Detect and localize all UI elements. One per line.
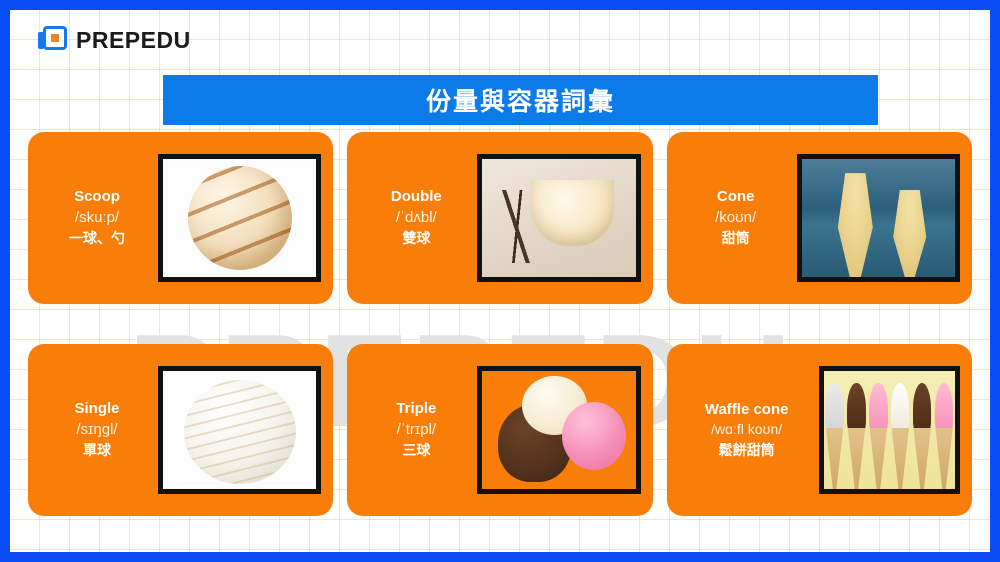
vocab-card-triple[interactable]: Triple /ˈtrɪpl/ 三球 xyxy=(347,344,652,516)
vocab-word: Cone xyxy=(679,187,793,207)
vocab-card-waffle-cone[interactable]: Waffle cone /wɑːfl koʊn/ 鬆餅甜筒 xyxy=(667,344,972,516)
vocab-card-text-block: Scoop /skuːp/ 一球、勺 xyxy=(40,187,158,249)
brand-header: PREPEDU xyxy=(38,26,191,55)
vocab-word: Single xyxy=(40,399,154,419)
vanilla-bowl-ice-cream-photo xyxy=(477,154,640,282)
vocab-translation: 鬆餅甜筒 xyxy=(679,440,815,460)
three-scoops-chocolate-vanilla-strawberry-photo xyxy=(477,366,640,494)
vocab-card-single[interactable]: Single /sɪŋgl/ 單球 xyxy=(28,344,333,516)
vocab-ipa: /sɪŋgl/ xyxy=(40,419,154,440)
vocab-word: Triple xyxy=(359,399,473,419)
row-of-waffle-cones-photo xyxy=(819,366,960,494)
vocab-card-text-block: Double /ˈdʌbl/ 雙球 xyxy=(359,187,477,249)
vocab-word: Scoop xyxy=(40,187,154,207)
vocab-ipa: /ˈtrɪpl/ xyxy=(359,419,473,440)
page-title: 份量與容器詞彙 xyxy=(426,82,615,118)
slide-blue-frame: PREPEDU PREPEDU 份量與容器詞彙 Scoop /skuːp/ 一球… xyxy=(0,0,1000,562)
vocab-card-text-block: Cone /koʊn/ 甜筒 xyxy=(679,187,797,249)
slide-canvas: PREPEDU PREPEDU 份量與容器詞彙 Scoop /skuːp/ 一球… xyxy=(10,10,990,552)
vocab-word: Waffle cone xyxy=(679,400,815,420)
vocab-card-scoop[interactable]: Scoop /skuːp/ 一球、勺 xyxy=(28,132,333,304)
vocab-card-text-block: Waffle cone /wɑːfl koʊn/ 鬆餅甜筒 xyxy=(679,400,819,460)
caramel-ice-cream-scoop-photo xyxy=(158,154,321,282)
title-banner: 份量與容器詞彙 xyxy=(163,75,878,125)
two-soft-serve-cones-seaside-photo xyxy=(797,154,960,282)
vocab-translation: 單球 xyxy=(40,440,154,460)
vocab-translation: 一球、勺 xyxy=(40,228,154,248)
prepedu-logo-icon xyxy=(38,26,67,55)
vocab-translation: 三球 xyxy=(359,440,473,460)
brand-name: PREPEDU xyxy=(76,27,191,54)
vocab-card-double[interactable]: Double /ˈdʌbl/ 雙球 xyxy=(347,132,652,304)
vocab-ipa: /koʊn/ xyxy=(679,207,793,228)
vocab-card-text-block: Single /sɪŋgl/ 單球 xyxy=(40,399,158,461)
vocab-word: Double xyxy=(359,187,473,207)
single-white-ice-cream-scoop-photo xyxy=(158,366,321,494)
vocab-card-text-block: Triple /ˈtrɪpl/ 三球 xyxy=(359,399,477,461)
logo-dot-shape xyxy=(51,34,59,42)
vocab-ipa: /ˈdʌbl/ xyxy=(359,207,473,228)
vocab-card-cone[interactable]: Cone /koʊn/ 甜筒 xyxy=(667,132,972,304)
vocab-ipa: /skuːp/ xyxy=(40,207,154,228)
vocab-ipa: /wɑːfl koʊn/ xyxy=(679,420,815,440)
vocabulary-card-grid: Scoop /skuːp/ 一球、勺 Double /ˈdʌbl/ 雙球 xyxy=(28,132,972,516)
vocab-translation: 甜筒 xyxy=(679,228,793,248)
vocab-translation: 雙球 xyxy=(359,228,473,248)
